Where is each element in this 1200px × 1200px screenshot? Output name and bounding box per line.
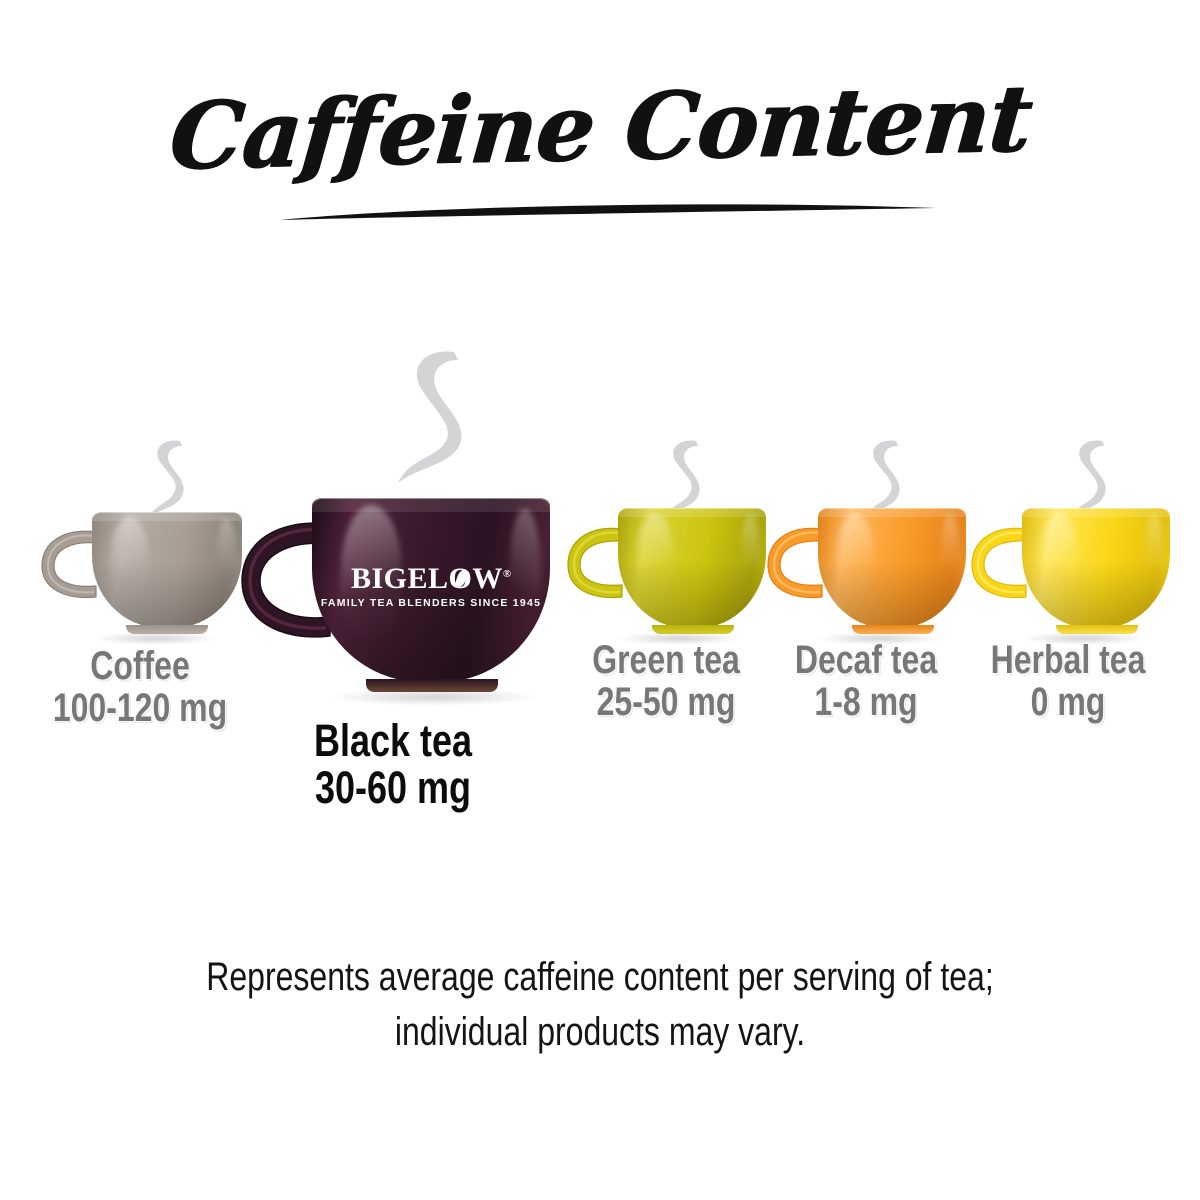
bigelow-wordmark: BIGELOW® bbox=[351, 564, 511, 594]
caffeine-content-infographic: { "title": { "text": "Caffeine Content" … bbox=[0, 0, 1200, 1200]
cup-coffee bbox=[34, 512, 244, 640]
cup-foot-black-tea bbox=[366, 679, 498, 692]
cup-label-name-black-tea: Black tea bbox=[249, 718, 537, 765]
footer-line-1: Represents average caffeine content per … bbox=[120, 950, 1080, 1005]
cup-label-value-green-tea: 25-50 mg bbox=[554, 682, 778, 724]
cup-label-name-green-tea: Green tea bbox=[554, 640, 778, 682]
cup-gloss-green-tea bbox=[636, 513, 674, 602]
cup-inner-shadow-coffee bbox=[92, 563, 242, 628]
cup-label-green-tea: Green tea 25-50 mg bbox=[554, 640, 778, 723]
cup-row: Coffee 100-120 mg BIGEL bbox=[0, 340, 1200, 900]
cup-rim-coffee bbox=[92, 512, 242, 521]
cup-herbal-tea bbox=[966, 508, 1172, 640]
cup-label-value-coffee: 100-120 mg bbox=[28, 688, 252, 730]
cup-gloss-decaf-tea bbox=[836, 513, 874, 602]
footer-disclaimer: Represents average caffeine content per … bbox=[0, 950, 1200, 1060]
cup-gloss-coffee bbox=[110, 517, 149, 603]
page-title: Caffeine Content bbox=[166, 69, 1035, 186]
bigelow-word-text: BIGELOW bbox=[351, 562, 503, 595]
cup-green-tea bbox=[562, 508, 768, 640]
steam-icon-coffee bbox=[142, 438, 194, 520]
cup-label-coffee: Coffee 100-120 mg bbox=[28, 646, 252, 729]
cup-rim-green-tea bbox=[618, 508, 766, 517]
bigelow-logo: BIGELOW® FAMILY TEA BLENDERS SINCE 1945 bbox=[312, 564, 550, 609]
title-block: Caffeine Content bbox=[0, 78, 1200, 177]
cup-gloss-herbal-tea bbox=[1040, 513, 1078, 602]
cup-inner-shadow-decaf-tea bbox=[818, 561, 966, 628]
footer-line-2: individual products may vary. bbox=[120, 1005, 1080, 1060]
title-underline-swoosh bbox=[278, 196, 938, 222]
cup-foot-green-tea bbox=[652, 625, 734, 634]
cup-gloss-right-herbal-tea bbox=[1145, 515, 1164, 594]
cup-label-name-coffee: Coffee bbox=[28, 646, 252, 688]
cup-label-value-herbal-tea: 0 mg bbox=[956, 682, 1180, 724]
cup-foot-herbal-tea bbox=[1056, 625, 1138, 634]
cup-decaf-tea bbox=[762, 508, 968, 640]
cup-label-herbal-tea: Herbal tea 0 mg bbox=[956, 640, 1180, 723]
cup-label-value-decaf-tea: 1-8 mg bbox=[754, 682, 978, 724]
cup-group-black-tea: BIGELOW® FAMILY TEA BLENDERS SINCE 1945 … bbox=[228, 340, 558, 900]
cup-rim-herbal-tea bbox=[1022, 508, 1170, 517]
cup-inner-shadow-herbal-tea bbox=[1022, 561, 1170, 628]
cup-label-black-tea: Black tea 30-60 mg bbox=[249, 718, 537, 812]
cup-label-value-black-tea: 30-60 mg bbox=[249, 765, 537, 812]
cup-foot-coffee bbox=[126, 625, 208, 634]
cup-rim-black-tea bbox=[312, 498, 550, 512]
cup-label-name-decaf-tea: Decaf tea bbox=[754, 640, 978, 682]
cup-foot-decaf-tea bbox=[852, 625, 934, 634]
cup-inner-shadow-green-tea bbox=[618, 561, 766, 628]
cup-group-decaf-tea: Decaf tea 1-8 mg bbox=[756, 340, 976, 900]
cup-label-name-herbal-tea: Herbal tea bbox=[956, 640, 1180, 682]
steam-icon-black-tea bbox=[396, 348, 474, 488]
cup-rim-decaf-tea bbox=[818, 508, 966, 517]
cup-group-green-tea: Green tea 25-50 mg bbox=[556, 340, 776, 900]
cup-group-coffee: Coffee 100-120 mg bbox=[20, 340, 260, 900]
bigelow-tagline: FAMILY TEA BLENDERS SINCE 1945 bbox=[312, 598, 550, 609]
cup-black-tea: BIGELOW® FAMILY TEA BLENDERS SINCE 1945 bbox=[234, 498, 554, 698]
cup-group-herbal-tea: Herbal tea 0 mg bbox=[956, 340, 1182, 900]
registered-trademark-icon: ® bbox=[503, 568, 511, 580]
cup-label-decaf-tea: Decaf tea 1-8 mg bbox=[754, 640, 978, 723]
